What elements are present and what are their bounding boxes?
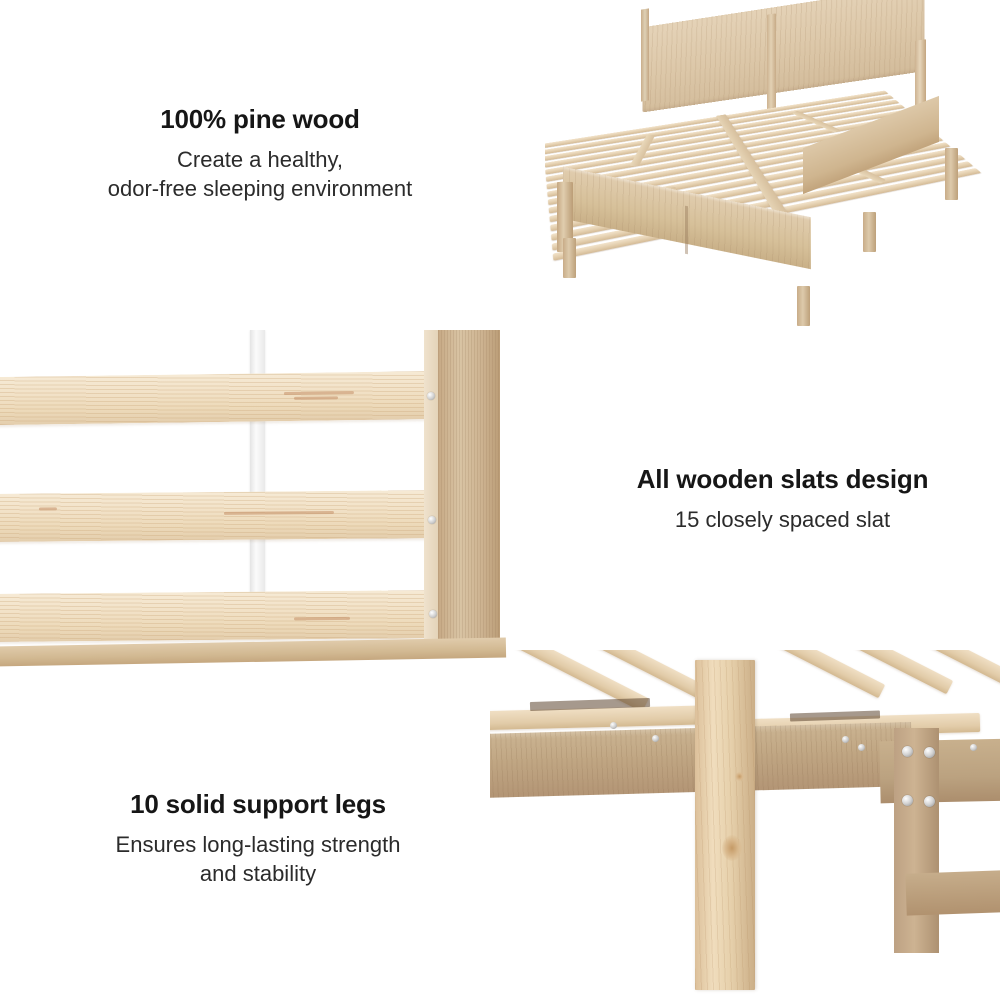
feature-subtitle-pine-wood: Create a healthy, odor-free sleeping env… [60,145,460,203]
slat-screw-1 [427,392,435,400]
slat-screw-2 [428,516,436,524]
support-foot-rail [905,870,1000,915]
bed-rail-seam [685,206,688,255]
corner-bolt-4 [924,796,935,807]
slat-board-3 [0,590,440,642]
slat-fixing-screw-2 [652,735,659,742]
wood-knot [722,835,742,861]
photo-bed-frame-full [545,0,1000,330]
slat-side-rail [438,330,500,648]
photo-slats-closeup [0,330,525,670]
bed-frame-illustration [545,0,1000,330]
corner-bolt-2 [924,747,935,758]
slat-bottom-rail [0,638,506,667]
headboard-left-post [641,8,649,101]
slat-screw-3 [429,610,437,618]
feature-block-wooden-slats: All wooden slats design 15 closely space… [610,463,955,534]
feature-title-pine-wood: 100% pine wood [60,103,460,136]
slat-fixing-screw-3 [842,736,849,743]
feature-title-support-legs: 10 solid support legs [58,788,458,821]
feature-block-support-legs: 10 solid support legs Ensures long-lasti… [58,788,458,888]
slat-fixing-screw-4 [858,744,865,751]
corner-bolt-1 [902,746,913,757]
bed-leg-rear-right [945,148,958,200]
feature-subtitle-support-legs: Ensures long-lasting strength and stabil… [58,830,458,888]
feature-block-pine-wood: 100% pine wood Create a healthy, odor-fr… [60,103,460,203]
support-leg-centre [695,660,755,990]
infographic-canvas: 100% pine wood Create a healthy, odor-fr… [0,0,1000,1000]
feature-title-wooden-slats: All wooden slats design [610,463,955,496]
bed-leg-mid-right [863,212,876,252]
wood-knot-small [735,772,744,781]
bed-leg-front-left [563,238,576,278]
underside-slat-3 [745,650,885,698]
support-leg-corner-post [894,728,939,953]
slat-board-1 [0,371,440,425]
slat-rail-inner-edge [424,330,439,652]
feature-subtitle-wooden-slats: 15 closely spaced slat [610,505,955,534]
corner-bolt-3 [902,795,913,806]
photo-support-legs-closeup [490,650,1000,1000]
headboard-centre-post [767,13,776,112]
slat-fixing-screw-1 [610,722,617,729]
slat-board-2 [0,490,440,542]
slat-fixing-screw-5 [970,744,977,751]
bed-leg-front-right [797,286,810,326]
